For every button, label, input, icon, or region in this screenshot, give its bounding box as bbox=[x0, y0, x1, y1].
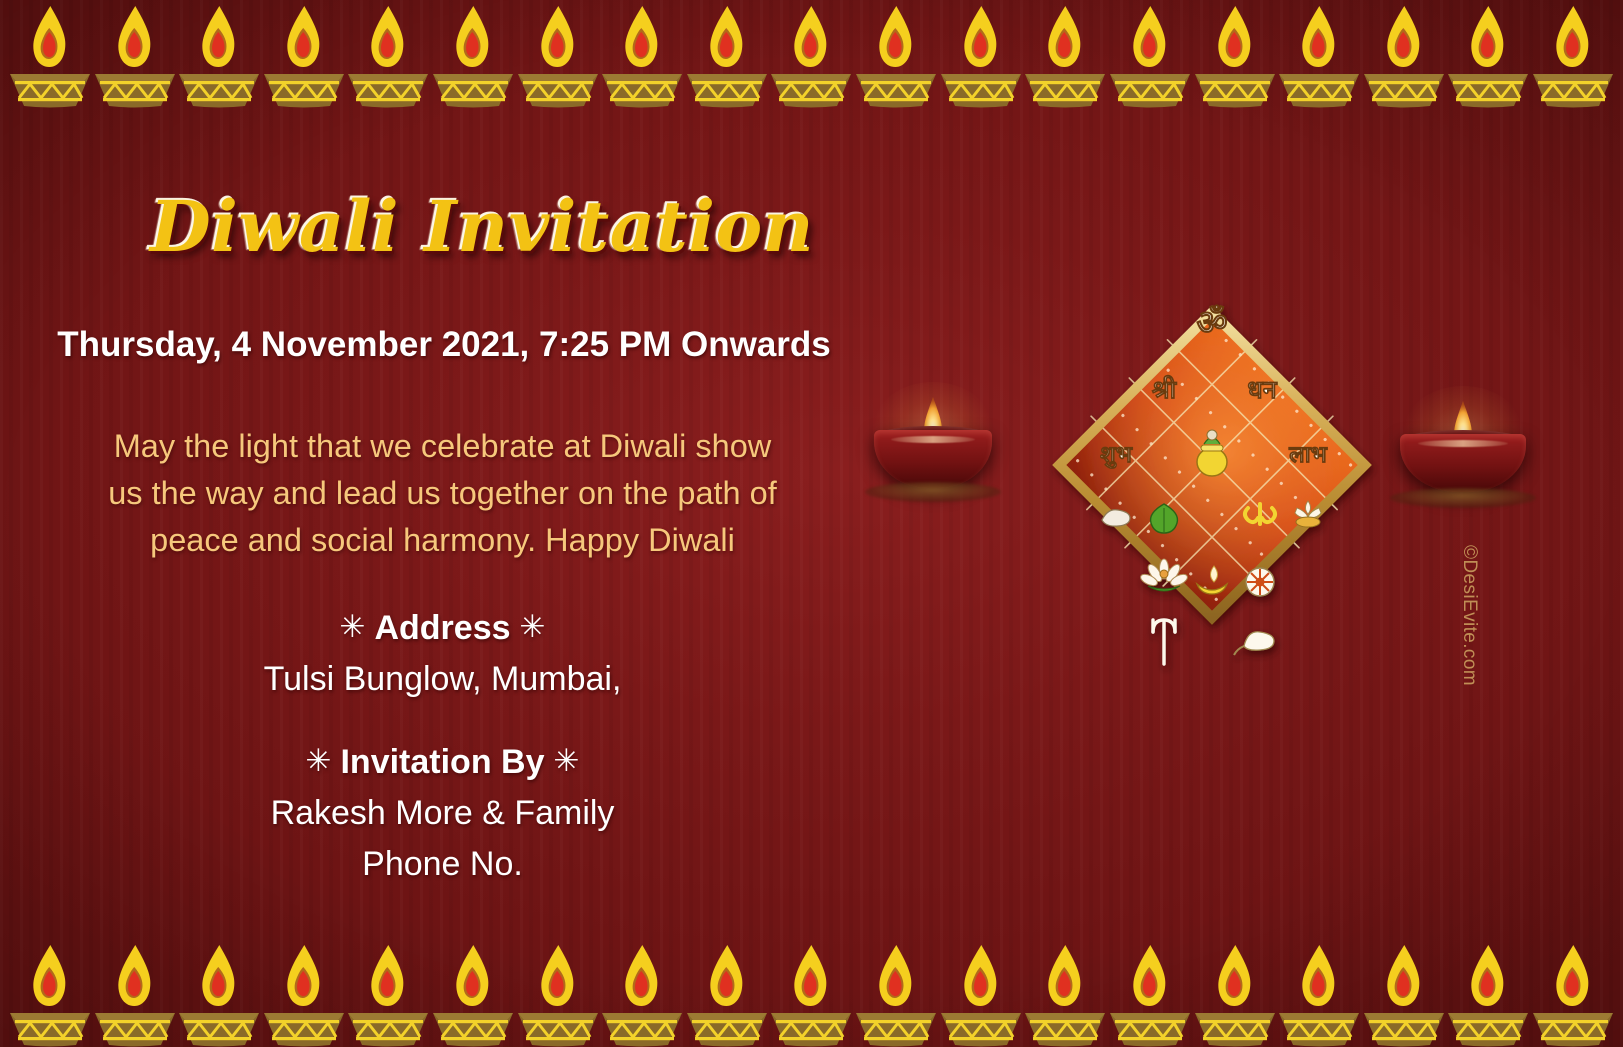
asterisk-flower-icon: ✳ bbox=[330, 601, 374, 653]
address-heading: ✳Address✳ bbox=[10, 601, 875, 654]
diya-lamp-icon bbox=[854, 4, 938, 108]
diya-lamp-icon bbox=[1023, 4, 1107, 108]
diya-bowl bbox=[602, 68, 682, 108]
diya-bowl bbox=[941, 1007, 1021, 1047]
diya-flame bbox=[117, 945, 151, 1007]
diya-bowl bbox=[1533, 68, 1613, 108]
diya-bowl bbox=[264, 1007, 344, 1047]
diya-bowl bbox=[348, 68, 428, 108]
lamp-plate-right bbox=[1390, 488, 1536, 508]
event-date-time: Thursday, 4 November 2021, 7:25 PM Onwar… bbox=[14, 325, 874, 365]
diya-bowl bbox=[518, 1007, 598, 1047]
diya-flame bbox=[1555, 945, 1589, 1007]
host-heading-label: Invitation By bbox=[340, 743, 544, 781]
diya-lamp-icon bbox=[1277, 943, 1361, 1047]
diya-lamp-icon bbox=[939, 4, 1023, 108]
watermark-credit: ©DesiEvite.com bbox=[1458, 545, 1480, 695]
diya-flame bbox=[625, 945, 659, 1007]
diya-lamp-icon bbox=[1446, 4, 1530, 108]
diya-flame bbox=[625, 6, 659, 68]
diya-lamp-icon bbox=[1023, 943, 1107, 1047]
diya-bowl bbox=[433, 68, 513, 108]
address-value: Tulsi Bunglow, Mumbai, bbox=[10, 654, 875, 705]
diya-bowl bbox=[348, 1007, 428, 1047]
diya-flame bbox=[1217, 945, 1251, 1007]
diya-lamp-icon bbox=[1277, 4, 1361, 108]
diya-flame bbox=[1471, 945, 1505, 1007]
lamp-plate-left bbox=[865, 482, 1002, 502]
top-diya-border bbox=[0, 0, 1623, 108]
diya-bowl bbox=[264, 68, 344, 108]
diya-flame bbox=[709, 945, 743, 1007]
diya-flame bbox=[963, 6, 997, 68]
diya-bowl bbox=[10, 68, 90, 108]
diya-lamp-icon bbox=[685, 4, 769, 108]
diya-flame bbox=[540, 6, 574, 68]
diya-bowl bbox=[1110, 68, 1190, 108]
diya-flame bbox=[794, 6, 828, 68]
diya-flame bbox=[1217, 6, 1251, 68]
address-block: ✳Address✳ Tulsi Bunglow, Mumbai, bbox=[10, 601, 875, 705]
diya-flame bbox=[1048, 945, 1082, 1007]
diya-bowl bbox=[687, 68, 767, 108]
diya-lamp-icon bbox=[1193, 4, 1277, 108]
diya-bowl bbox=[1110, 1007, 1190, 1047]
diya-lamp-icon bbox=[177, 4, 261, 108]
diya-bowl bbox=[941, 68, 1021, 108]
lamp-oil-right bbox=[1418, 440, 1509, 447]
page-title: Diwali Invitation bbox=[150, 185, 814, 268]
diya-lamp-icon bbox=[93, 943, 177, 1047]
asterisk-flower-icon: ✳ bbox=[545, 735, 589, 787]
diya-bowl bbox=[1364, 68, 1444, 108]
diya-flame bbox=[1386, 945, 1420, 1007]
diya-lamp-icon bbox=[939, 943, 1023, 1047]
diya-lamp-icon bbox=[1531, 943, 1615, 1047]
diya-lamp-icon bbox=[769, 4, 853, 108]
diya-flame bbox=[455, 6, 489, 68]
diya-lamp-icon bbox=[262, 4, 346, 108]
diya-flame bbox=[1301, 6, 1335, 68]
diya-flame bbox=[455, 945, 489, 1007]
diya-flame bbox=[963, 945, 997, 1007]
diya-flame bbox=[1132, 945, 1166, 1007]
diya-bowl bbox=[1364, 1007, 1444, 1047]
diwali-invitation-card: ॐ श्री धन शुभ लाभ bbox=[0, 0, 1623, 1047]
diya-lamp-icon bbox=[1531, 4, 1615, 108]
diya-flame bbox=[1301, 945, 1335, 1007]
quote-line: us the way and lead us together on the p… bbox=[10, 470, 875, 517]
diya-flame bbox=[286, 945, 320, 1007]
diya-bowl bbox=[1533, 1007, 1613, 1047]
diya-lamp-icon bbox=[1193, 943, 1277, 1047]
diya-bowl bbox=[1025, 68, 1105, 108]
diya-bowl bbox=[518, 68, 598, 108]
diya-flame bbox=[286, 6, 320, 68]
greeting-quote: May the light that we celebrate at Diwal… bbox=[10, 423, 875, 564]
diya-bowl bbox=[602, 1007, 682, 1047]
diya-lamp-icon bbox=[93, 4, 177, 108]
diya-lamp-icon bbox=[346, 4, 430, 108]
diya-lamp-icon bbox=[346, 943, 430, 1047]
diya-lamp-icon bbox=[262, 943, 346, 1047]
diya-lamp-icon bbox=[8, 4, 92, 108]
diya-bowl bbox=[771, 68, 851, 108]
diya-flame bbox=[878, 6, 912, 68]
diya-bowl bbox=[856, 68, 936, 108]
diya-bowl bbox=[1279, 1007, 1359, 1047]
diya-lamp-icon bbox=[1108, 4, 1192, 108]
diya-lamp-icon bbox=[516, 943, 600, 1047]
diya-lamp-icon bbox=[516, 4, 600, 108]
diya-bowl bbox=[687, 1007, 767, 1047]
diya-bowl bbox=[1025, 1007, 1105, 1047]
diya-flame bbox=[1132, 6, 1166, 68]
diya-lamp-icon bbox=[431, 4, 515, 108]
diya-bowl bbox=[95, 1007, 175, 1047]
diya-flame bbox=[794, 945, 828, 1007]
diya-bowl bbox=[95, 68, 175, 108]
diya-flame bbox=[371, 945, 405, 1007]
lamp-oil-left bbox=[891, 436, 976, 443]
oil-lamp-right bbox=[1400, 412, 1526, 504]
diya-bowl bbox=[856, 1007, 936, 1047]
quote-line: peace and social harmony. Happy Diwali bbox=[10, 517, 875, 564]
diya-lamp-icon bbox=[600, 4, 684, 108]
diya-lamp-icon bbox=[685, 943, 769, 1047]
asterisk-flower-icon: ✳ bbox=[511, 601, 555, 653]
diya-bowl bbox=[771, 1007, 851, 1047]
diya-bowl bbox=[1279, 68, 1359, 108]
diya-flame bbox=[371, 6, 405, 68]
diya-bowl bbox=[10, 1007, 90, 1047]
bottom-diya-border bbox=[0, 939, 1623, 1047]
diya-lamp-icon bbox=[8, 943, 92, 1047]
diya-lamp-icon bbox=[769, 943, 853, 1047]
diya-bowl bbox=[1195, 68, 1275, 108]
diya-bowl bbox=[1448, 68, 1528, 108]
diya-flame bbox=[1555, 6, 1589, 68]
diya-flame bbox=[709, 6, 743, 68]
diya-bowl bbox=[179, 1007, 259, 1047]
asterisk-flower-icon: ✳ bbox=[297, 735, 341, 787]
diya-flame bbox=[540, 945, 574, 1007]
diya-flame bbox=[202, 6, 236, 68]
host-block: ✳Invitation By✳ Rakesh More & Family Pho… bbox=[10, 735, 875, 890]
diya-flame bbox=[202, 945, 236, 1007]
diya-bowl bbox=[1448, 1007, 1528, 1047]
diya-lamp-icon bbox=[431, 943, 515, 1047]
diya-lamp-icon bbox=[1108, 943, 1192, 1047]
diya-flame bbox=[32, 6, 66, 68]
diya-lamp-icon bbox=[854, 943, 938, 1047]
diya-flame bbox=[1386, 6, 1420, 68]
diya-flame bbox=[878, 945, 912, 1007]
diya-flame bbox=[32, 945, 66, 1007]
host-heading: ✳Invitation By✳ bbox=[10, 735, 875, 788]
diya-lamp-icon bbox=[600, 943, 684, 1047]
diya-flame bbox=[1471, 6, 1505, 68]
diya-lamp-icon bbox=[1362, 4, 1446, 108]
diya-flame bbox=[117, 6, 151, 68]
oil-lamp-left bbox=[874, 408, 992, 498]
host-phone-label: Phone No. bbox=[10, 839, 875, 890]
diya-lamp-icon bbox=[1446, 943, 1530, 1047]
diya-bowl bbox=[179, 68, 259, 108]
quote-line: May the light that we celebrate at Diwal… bbox=[10, 423, 875, 470]
diya-lamp-icon bbox=[177, 943, 261, 1047]
diya-flame bbox=[1048, 6, 1082, 68]
host-name: Rakesh More & Family bbox=[10, 788, 875, 839]
diya-lamp-icon bbox=[1362, 943, 1446, 1047]
diya-bowl bbox=[433, 1007, 513, 1047]
address-heading-label: Address bbox=[374, 609, 510, 647]
diya-bowl bbox=[1195, 1007, 1275, 1047]
